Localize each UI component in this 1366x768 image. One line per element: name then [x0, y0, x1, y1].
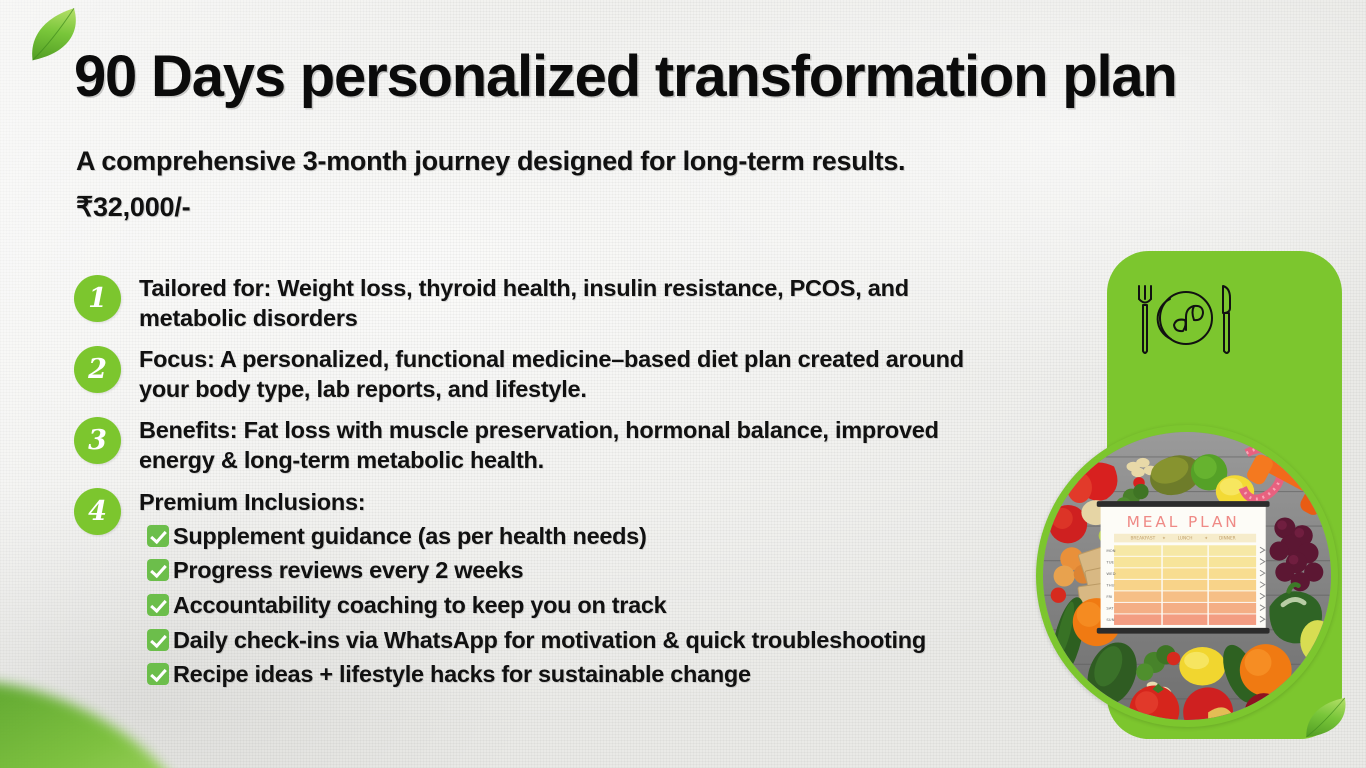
food-photo-illustration: MEAL PLAN BREAKFAST LUNCH DINNER ✦✦	[1043, 432, 1331, 720]
item-text: Focus: A personalized, functional medici…	[139, 344, 984, 404]
check-icon	[147, 663, 169, 685]
svg-text:✦: ✦	[1204, 536, 1208, 542]
item-text: Premium Inclusions:	[139, 487, 926, 517]
fork-plate-knife-icon	[1131, 280, 1241, 360]
list-item: 1 Tailored for: Weight loss, thyroid hea…	[74, 273, 984, 333]
svg-text:SAT: SAT	[1106, 606, 1114, 611]
item-text: Tailored for: Weight loss, thyroid healt…	[139, 273, 984, 333]
page-title: 90 Days personalized transformation plan	[74, 46, 1284, 107]
list-item: Daily check-ins via WhatsApp for motivat…	[147, 625, 926, 657]
check-icon	[147, 559, 169, 581]
svg-text:DINNER: DINNER	[1219, 536, 1236, 542]
item-number-badge: 1	[74, 275, 121, 322]
svg-text:MON: MON	[1106, 548, 1115, 553]
inclusion-label: Progress reviews every 2 weeks	[173, 555, 523, 587]
inclusion-label: Accountability coaching to keep you on t…	[173, 590, 666, 622]
svg-text:LUNCH: LUNCH	[1178, 536, 1193, 542]
page-subtitle: A comprehensive 3-month journey designed…	[76, 146, 905, 177]
svg-text:THU: THU	[1105, 583, 1114, 588]
check-icon	[147, 629, 169, 651]
inclusion-label: Recipe ideas + lifestyle hacks for susta…	[173, 659, 751, 691]
list-item: 3 Benefits: Fat loss with muscle preserv…	[74, 415, 984, 475]
list-item: Progress reviews every 2 weeks	[147, 555, 926, 587]
svg-text:BREAKFAST: BREAKFAST	[1130, 536, 1155, 542]
inclusion-label: Supplement guidance (as per health needs…	[173, 521, 646, 553]
list-item: Recipe ideas + lifestyle hacks for susta…	[147, 659, 926, 691]
item-text: Benefits: Fat loss with muscle preservat…	[139, 415, 984, 475]
item-number-badge: 2	[74, 346, 121, 393]
meal-plan-photo: MEAL PLAN BREAKFAST LUNCH DINNER ✦✦	[1036, 425, 1338, 727]
check-icon	[147, 525, 169, 547]
slide-canvas: 90 Days personalized transformation plan…	[0, 0, 1366, 768]
svg-text:FRI: FRI	[1106, 594, 1112, 599]
svg-text:MEAL PLAN: MEAL PLAN	[1127, 513, 1240, 531]
check-icon	[147, 594, 169, 616]
list-item: 2 Focus: A personalized, functional medi…	[74, 344, 984, 404]
item-number-badge: 4	[74, 488, 121, 535]
price-label: ₹32,000/-	[76, 192, 190, 223]
svg-text:TUE: TUE	[1105, 560, 1114, 565]
svg-text:✦: ✦	[1162, 536, 1166, 542]
item-number-badge: 3	[74, 417, 121, 464]
svg-text:WED: WED	[1106, 571, 1115, 576]
svg-text:SUN: SUN	[1106, 617, 1114, 622]
inclusion-label: Daily check-ins via WhatsApp for motivat…	[173, 625, 926, 657]
list-item: 4 Premium Inclusions: Supplement guidanc…	[74, 486, 984, 691]
list-item: Accountability coaching to keep you on t…	[147, 590, 926, 622]
list-item: Supplement guidance (as per health needs…	[147, 521, 926, 553]
inclusions-list: Supplement guidance (as per health needs…	[147, 521, 926, 692]
feature-list: 1 Tailored for: Weight loss, thyroid hea…	[74, 273, 984, 691]
